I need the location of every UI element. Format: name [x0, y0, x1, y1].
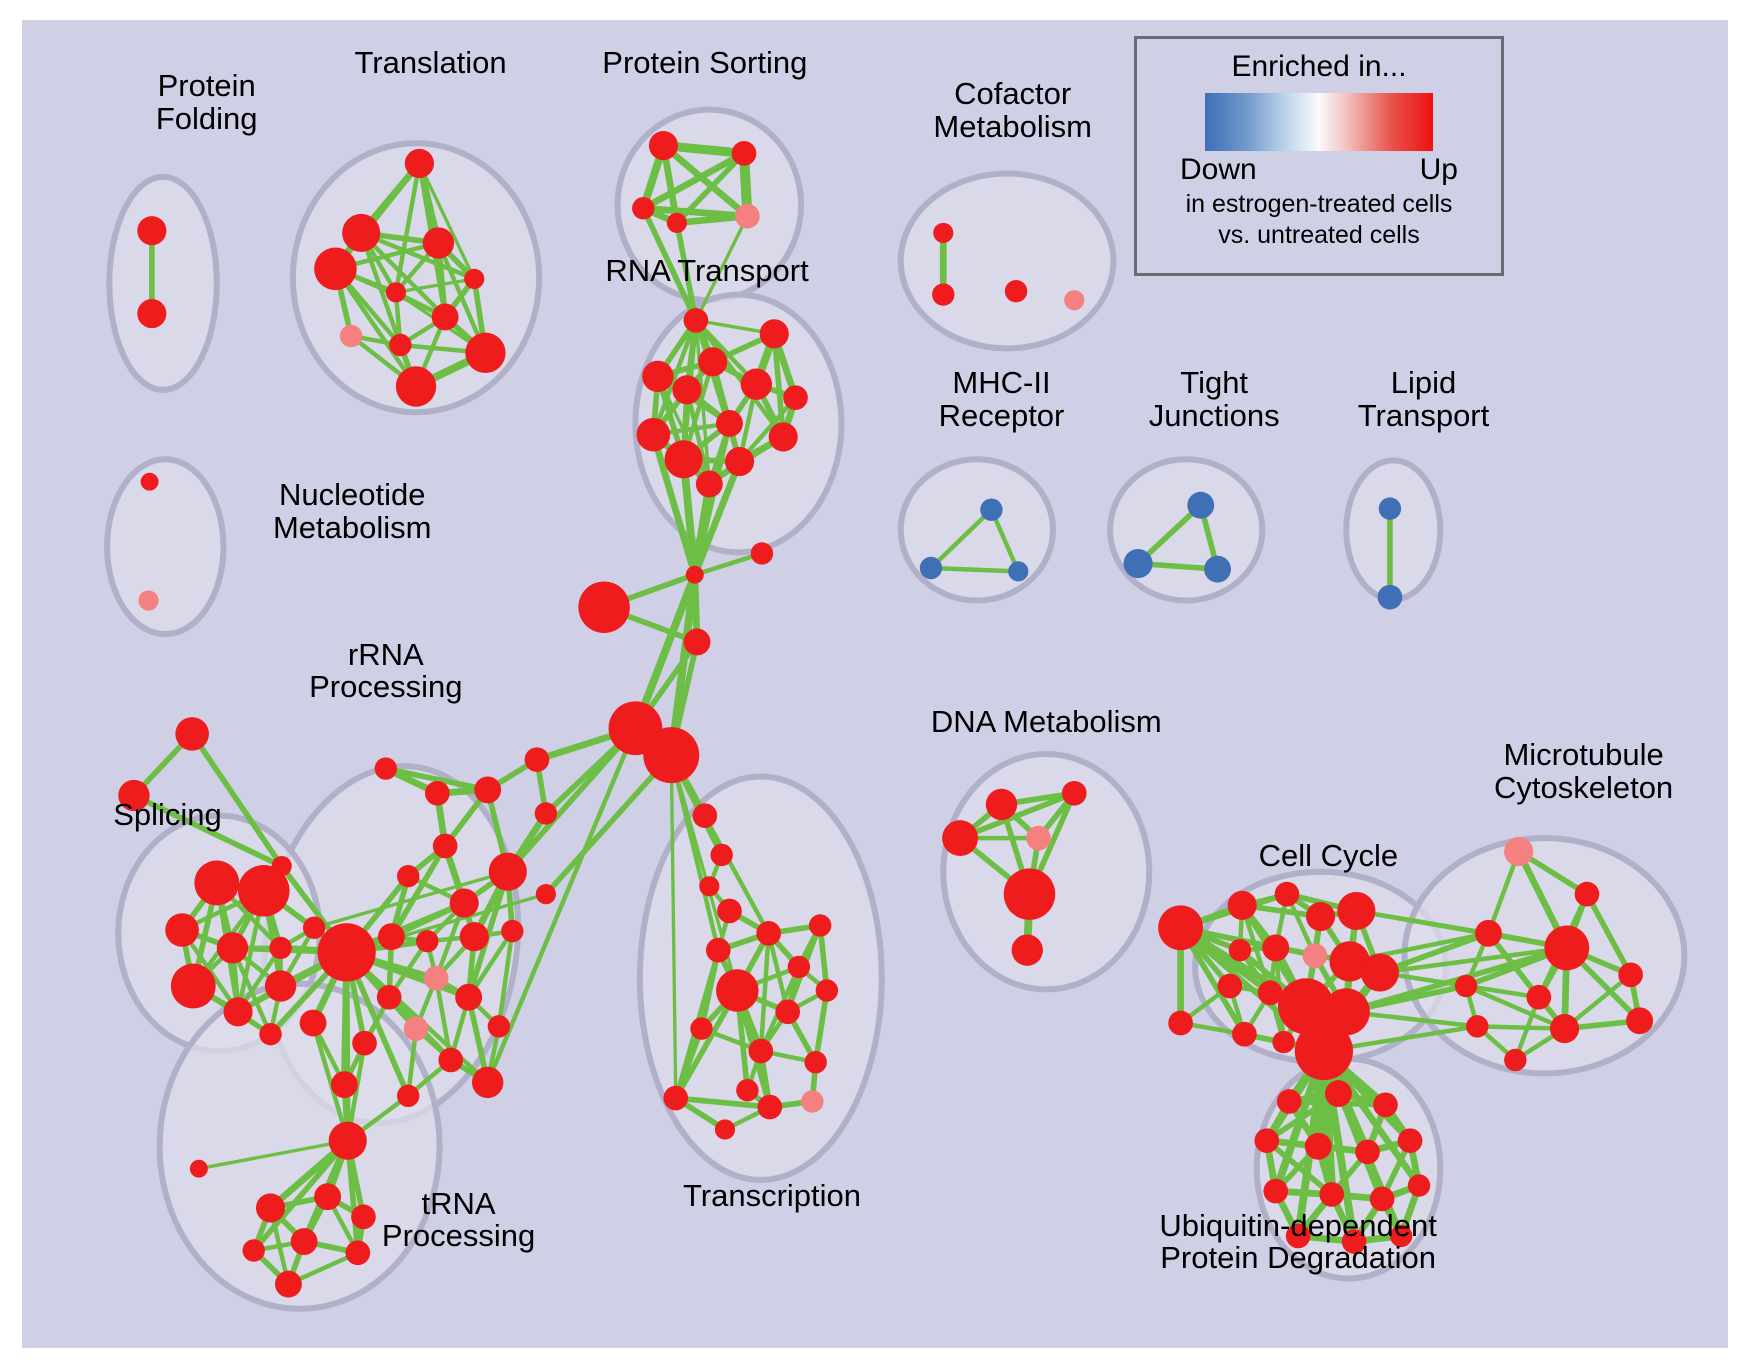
legend-title: Enriched in...: [1137, 50, 1501, 84]
network-node-sp6[interactable]: [303, 917, 325, 939]
network-node-bk11[interactable]: [525, 747, 550, 772]
network-node-mt7[interactable]: [1618, 962, 1643, 987]
cluster-label-trna-processing: tRNA Processing: [335, 1188, 581, 1252]
network-node-rt11[interactable]: [665, 440, 703, 478]
network-node-tc7[interactable]: [816, 979, 838, 1001]
network-node-bk10[interactable]: [717, 899, 742, 924]
network-node-dn4[interactable]: [1026, 826, 1051, 851]
network-node-ub1[interactable]: [1277, 1089, 1302, 1114]
network-node-tc14[interactable]: [801, 1090, 823, 1112]
network-node-bk12[interactable]: [535, 802, 557, 824]
legend-colorbar: [1205, 93, 1433, 151]
network-node-tr3[interactable]: [423, 227, 454, 258]
network-node-rr7[interactable]: [450, 889, 479, 918]
network-node-mh3[interactable]: [1008, 561, 1028, 581]
network-node-cc8[interactable]: [1303, 943, 1328, 968]
network-node-ps1[interactable]: [649, 131, 678, 160]
network-node-mh2[interactable]: [920, 557, 942, 579]
network-node-rr9[interactable]: [416, 930, 438, 952]
network-node-tn6[interactable]: [243, 1239, 265, 1261]
network-node-rt4[interactable]: [642, 361, 673, 392]
network-node-rt1[interactable]: [684, 308, 709, 333]
network-node-cf2[interactable]: [932, 283, 954, 305]
network-node-tc1[interactable]: [756, 921, 781, 946]
cluster-label-transcription: Transcription: [632, 1180, 912, 1212]
network-node-rt9[interactable]: [637, 418, 671, 452]
network-node-ps5[interactable]: [735, 204, 760, 229]
network-node-tn4[interactable]: [291, 1228, 318, 1255]
network-node-rr12[interactable]: [318, 923, 376, 981]
network-node-tj1[interactable]: [1187, 492, 1214, 519]
network-node-mt8[interactable]: [1466, 1015, 1488, 1037]
legend-box: Enriched in... Down Up in estrogen-treat…: [1134, 36, 1504, 276]
network-node-tc3[interactable]: [706, 938, 731, 963]
network-node-tc11[interactable]: [663, 1086, 688, 1111]
network-node-tr7[interactable]: [432, 304, 459, 331]
network-node-ps2[interactable]: [732, 141, 757, 166]
legend-endpoints: Down Up: [1180, 153, 1458, 187]
network-node-cc2[interactable]: [1228, 891, 1257, 920]
network-node-tr11[interactable]: [396, 366, 436, 406]
cluster-ellipse-protein-folding: [109, 177, 216, 390]
network-node-sp10[interactable]: [259, 1023, 281, 1045]
network-node-tr8[interactable]: [340, 325, 362, 347]
network-node-tj2[interactable]: [1124, 549, 1153, 578]
network-node-rr1[interactable]: [375, 757, 397, 779]
cluster-ellipse-lipid-transport: [1346, 460, 1440, 599]
network-node-tj3[interactable]: [1204, 556, 1231, 583]
network-node-cc17[interactable]: [1272, 1031, 1294, 1053]
network-node-cc3[interactable]: [1275, 882, 1300, 907]
network-node-rr14[interactable]: [377, 985, 402, 1010]
network-node-mt3[interactable]: [1475, 920, 1502, 947]
cluster-ellipse-dna-metabolism: [943, 754, 1149, 989]
network-node-sp5[interactable]: [269, 937, 291, 959]
cluster-label-mhc-ii-receptor: MHC-II Receptor: [890, 367, 1114, 431]
network-node-tc15[interactable]: [715, 1119, 735, 1139]
network-node-sp4[interactable]: [217, 932, 248, 963]
cluster-label-microtubule-cytoskeleton: Microtubule Cytoskeleton: [1438, 739, 1728, 803]
network-node-rr3[interactable]: [474, 776, 501, 803]
network-node-rr20[interactable]: [300, 1010, 327, 1037]
network-node-ub9[interactable]: [1319, 1182, 1344, 1207]
network-node-dn2[interactable]: [1062, 781, 1087, 806]
network-node-tc4[interactable]: [788, 956, 810, 978]
network-node-ub8[interactable]: [1263, 1179, 1288, 1204]
network-node-bk8[interactable]: [710, 844, 732, 866]
network-node-ub2[interactable]: [1325, 1080, 1352, 1107]
legend-subtitle-line-1: in estrogen-treated cells: [1137, 190, 1501, 218]
network-node-bk6[interactable]: [643, 727, 699, 783]
network-edge: [546, 755, 671, 894]
network-node-mt11[interactable]: [1504, 1049, 1526, 1071]
cluster-label-splicing: Splicing: [67, 799, 268, 831]
cluster-ellipse-transcription: [640, 776, 882, 1179]
network-node-rr13[interactable]: [424, 966, 449, 991]
cluster-label-rna-transport: RNA Transport: [562, 255, 853, 287]
network-node-rr22[interactable]: [397, 1085, 419, 1107]
network-node-cf4[interactable]: [1064, 290, 1084, 310]
cluster-ellipse-mhc-ii-receptor: [901, 459, 1053, 600]
network-node-bk3[interactable]: [578, 581, 630, 633]
network-node-cc15[interactable]: [1168, 1011, 1193, 1036]
legend-low-label: Down: [1180, 153, 1257, 187]
network-node-mt1[interactable]: [1504, 837, 1533, 866]
cluster-label-translation: Translation: [302, 47, 559, 79]
network-node-bk7[interactable]: [693, 803, 718, 828]
network-node-rt2[interactable]: [760, 319, 789, 348]
legend-subtitle-line-2: vs. untreated cells: [1137, 221, 1501, 249]
network-node-rt7[interactable]: [783, 385, 808, 410]
network-node-cc18[interactable]: [1295, 1022, 1353, 1080]
network-node-rt13[interactable]: [696, 471, 723, 498]
network-node-rr16[interactable]: [404, 1016, 429, 1041]
network-node-mt4[interactable]: [1544, 926, 1589, 971]
network-node-rr11[interactable]: [501, 920, 523, 942]
network-node-dn6[interactable]: [1012, 934, 1043, 965]
network-node-bk9[interactable]: [699, 876, 719, 896]
network-node-rt5[interactable]: [741, 369, 772, 400]
network-node-rt6[interactable]: [672, 375, 701, 404]
network-node-rr8[interactable]: [378, 923, 405, 950]
network-node-rt3[interactable]: [698, 347, 727, 376]
network-node-sp0[interactable]: [175, 717, 209, 751]
network-node-bk4[interactable]: [684, 629, 711, 656]
network-node-sp9[interactable]: [223, 997, 252, 1026]
network-node-bk2[interactable]: [751, 542, 773, 564]
cluster-ellipse-cofactor-metabolism: [901, 174, 1114, 349]
network-node-rr5[interactable]: [397, 865, 419, 887]
network-node-tr2[interactable]: [342, 214, 380, 252]
network-node-rr15[interactable]: [455, 984, 482, 1011]
network-node-cf1[interactable]: [933, 223, 953, 243]
legend-high-label: Up: [1420, 153, 1458, 187]
network-node-tn0[interactable]: [190, 1160, 208, 1178]
network-node-rt12[interactable]: [725, 447, 754, 476]
network-node-tc6[interactable]: [775, 999, 800, 1024]
network-node-rr6[interactable]: [489, 853, 527, 891]
cluster-label-cofactor-metabolism: Cofactor Metabolism: [873, 78, 1153, 142]
network-node-sp8[interactable]: [265, 970, 296, 1001]
network-node-ps3[interactable]: [632, 197, 654, 219]
cluster-label-ubiquitin-protein-degradation: Ubiquitin-dependent Protein Degradation: [1085, 1210, 1510, 1274]
network-node-nm2[interactable]: [138, 590, 158, 610]
network-node-nm1[interactable]: [141, 473, 159, 491]
network-node-sp2[interactable]: [238, 865, 290, 917]
network-node-cc11[interactable]: [1218, 974, 1243, 999]
network-node-mt10[interactable]: [1626, 1007, 1653, 1034]
network-node-sp1[interactable]: [194, 861, 239, 906]
network-node-rr17[interactable]: [488, 1015, 510, 1037]
network-node-tc12[interactable]: [736, 1079, 758, 1101]
network-node-pf2[interactable]: [137, 299, 166, 328]
network-node-rr21[interactable]: [331, 1071, 358, 1098]
network-node-tc13[interactable]: [757, 1095, 782, 1120]
network-node-tc2[interactable]: [809, 914, 831, 936]
network-node-tr10[interactable]: [465, 333, 505, 373]
network-node-tc10[interactable]: [804, 1051, 826, 1073]
network-node-mh1[interactable]: [980, 499, 1002, 521]
network-node-ub7[interactable]: [1398, 1128, 1423, 1153]
cluster-label-rrna-processing: rRNA Processing: [263, 639, 509, 703]
network-node-mt5[interactable]: [1455, 975, 1477, 997]
figure-canvas: Protein FoldingTranslationProtein Sortin…: [0, 0, 1750, 1360]
network-node-rt10[interactable]: [769, 422, 798, 451]
network-node-rr2[interactable]: [425, 781, 450, 806]
network-node-ub6[interactable]: [1355, 1140, 1380, 1165]
cluster-label-dna-metabolism: DNA Metabolism: [890, 706, 1203, 738]
cluster-label-protein-folding: Protein Folding: [89, 70, 324, 134]
network-node-tr6[interactable]: [386, 282, 406, 302]
network-node-rr10[interactable]: [460, 922, 489, 951]
network-node-pf1[interactable]: [137, 216, 166, 245]
network-node-rt8[interactable]: [716, 410, 743, 437]
network-node-sp3[interactable]: [165, 913, 199, 947]
network-node-tn7[interactable]: [275, 1271, 302, 1298]
network-node-rr19[interactable]: [438, 1048, 463, 1073]
network-panel: Protein FoldingTranslationProtein Sortin…: [22, 20, 1728, 1348]
network-node-dn5[interactable]: [1004, 868, 1056, 920]
network-node-mt9[interactable]: [1550, 1014, 1579, 1043]
cluster-ellipse-nucleotide-metabolism: [107, 459, 223, 634]
network-node-ub3[interactable]: [1373, 1092, 1398, 1117]
network-node-cc4[interactable]: [1306, 902, 1335, 931]
network-node-cc1[interactable]: [1158, 905, 1203, 950]
network-node-tc9[interactable]: [748, 1039, 773, 1064]
network-node-ub4[interactable]: [1254, 1128, 1279, 1153]
network-node-rr24[interactable]: [329, 1122, 367, 1160]
network-node-rr4[interactable]: [433, 834, 458, 859]
cluster-ellipse-tight-junctions: [1110, 459, 1262, 600]
cluster-label-lipid-transport: Lipid Transport: [1312, 367, 1536, 431]
network-node-ub11[interactable]: [1408, 1174, 1430, 1196]
network-node-cf3[interactable]: [1005, 280, 1027, 302]
network-node-dn3[interactable]: [942, 820, 978, 856]
network-node-cc6[interactable]: [1229, 939, 1251, 961]
network-node-cc10[interactable]: [1361, 954, 1399, 992]
network-node-tr5[interactable]: [464, 269, 484, 289]
network-node-tn1[interactable]: [256, 1193, 285, 1222]
cluster-label-tight-junctions: Tight Junctions: [1102, 367, 1326, 431]
network-node-bk1[interactable]: [686, 566, 704, 584]
network-node-tr4[interactable]: [314, 248, 357, 291]
network-node-lt2[interactable]: [1378, 585, 1403, 610]
network-node-rr23[interactable]: [472, 1067, 503, 1098]
network-node-cc5[interactable]: [1337, 892, 1375, 930]
cluster-label-protein-sorting: Protein Sorting: [559, 47, 850, 79]
network-node-mt6[interactable]: [1526, 985, 1551, 1010]
network-node-cc16[interactable]: [1232, 1022, 1257, 1047]
cluster-label-nucleotide-metabolism: Nucleotide Metabolism: [212, 479, 492, 543]
network-node-mt2[interactable]: [1575, 882, 1600, 907]
network-node-ps4[interactable]: [667, 213, 687, 233]
network-node-bk13[interactable]: [536, 884, 556, 904]
network-node-tr1[interactable]: [405, 149, 434, 178]
network-node-tc8[interactable]: [690, 1017, 712, 1039]
network-node-cc7[interactable]: [1262, 934, 1289, 961]
cluster-label-cell-cycle: Cell Cycle: [1211, 840, 1446, 872]
network-node-tc5[interactable]: [716, 969, 759, 1012]
network-node-tr9[interactable]: [389, 334, 411, 356]
network-node-sp7[interactable]: [171, 964, 216, 1009]
network-node-rr18[interactable]: [352, 1031, 377, 1056]
network-node-dn1[interactable]: [986, 789, 1017, 820]
network-node-lt1[interactable]: [1379, 497, 1401, 519]
network-node-ub5[interactable]: [1305, 1133, 1332, 1160]
